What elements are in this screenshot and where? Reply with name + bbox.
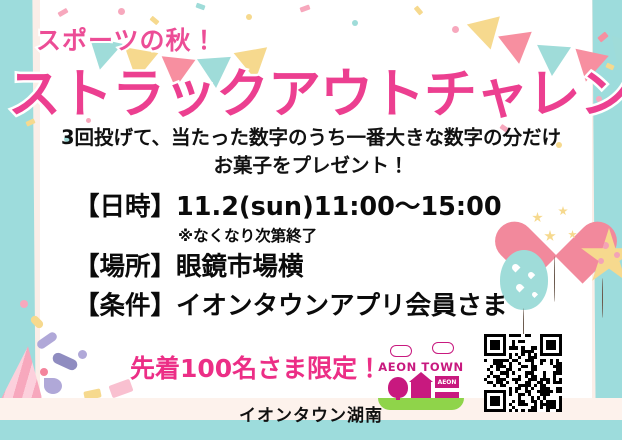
tree-trunk [396, 392, 400, 400]
shop-band [435, 388, 459, 392]
detail-row-condition: 【条件】イオンタウンアプリ会員さま [74, 291, 508, 322]
detail-value-condition: イオンタウンアプリ会員さま [176, 291, 508, 321]
detail-value-place: 眼鏡市場横 [176, 252, 304, 282]
detail-row-datetime: 【日時】11.2(sun)11:00〜15:00 [74, 192, 508, 223]
event-details: 【日時】11.2(sun)11:00〜15:00 ※なくなり次第終了 【場所】眼… [74, 192, 508, 322]
detail-value-datetime: 11.2(sun)11:00〜15:00 [176, 192, 502, 222]
lead-line-2: お菓子をプレゼント！ [0, 152, 622, 180]
lead-paragraph: 3回投げて、当たった数字のうち一番大きな数字の分だけ お菓子をプレゼント！ [0, 124, 622, 181]
page-title: ストラックアウトチャレンジ [8, 52, 622, 128]
limited-offer-text: 先着100名さま限定！ [130, 349, 382, 385]
detail-label-place: 【場所】 [74, 252, 176, 282]
detail-label-condition: 【条件】 [74, 291, 176, 321]
cloud-icon [390, 345, 412, 357]
detail-row-place: 【場所】眼鏡市場横 [74, 252, 508, 283]
detail-label-datetime: 【日時】 [74, 192, 176, 222]
flyer-canvas: スポーツの秋！ ストラックアウトチャレンジ 3回投げて、当たった数字のうち一番大… [0, 0, 622, 440]
house-roof [409, 372, 433, 382]
aeon-town-logo: AEON TOWN AEON [378, 336, 464, 410]
shop-label: AEON [435, 379, 459, 386]
detail-note: ※なくなり次第終了 [178, 224, 508, 246]
house-icon [411, 380, 431, 398]
lead-line-1: 3回投げて、当たった数字のうち一番大きな数字の分だけ [61, 126, 561, 149]
cloud-icon [432, 342, 454, 354]
footer-store-name: イオンタウン湖南 [0, 401, 622, 426]
